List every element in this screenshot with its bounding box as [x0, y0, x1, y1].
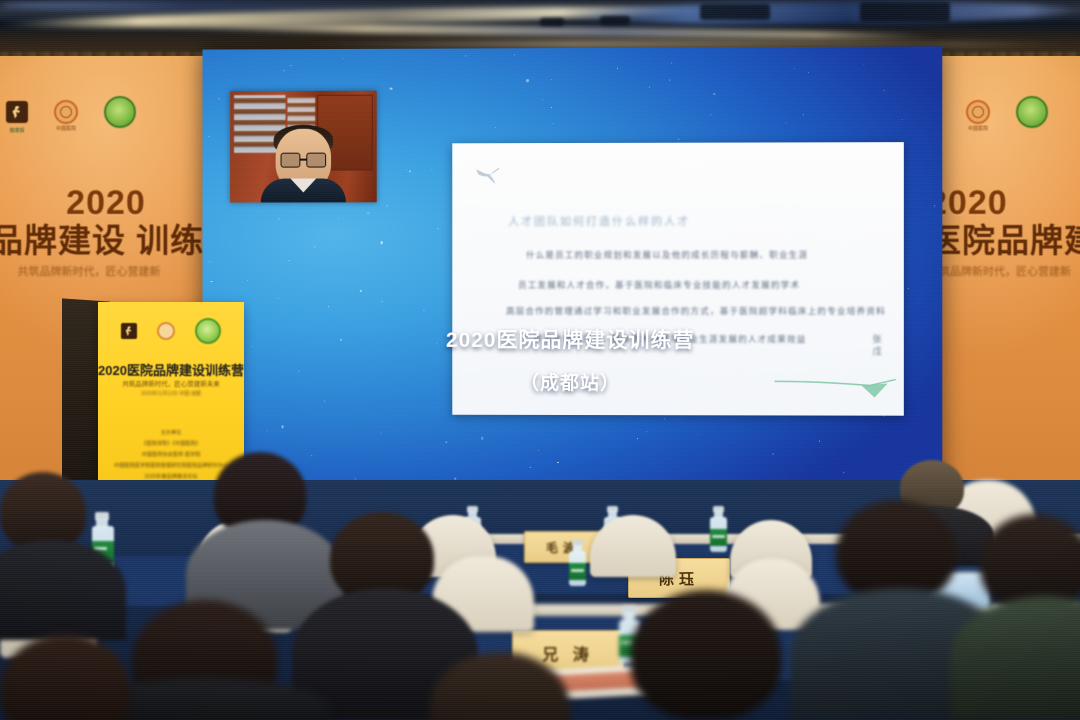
- remote-speaker-video: [230, 91, 377, 203]
- star: [646, 431, 648, 433]
- backdrop-main-line: 医院品牌建设 训练: [928, 224, 1080, 257]
- green-circle-icon: [1016, 96, 1048, 128]
- star: [551, 79, 552, 80]
- star: [637, 439, 638, 440]
- star: [808, 72, 810, 74]
- podium-subtitle: 共筑品牌新时代，匠心营建新未来: [98, 378, 244, 388]
- circular-seal-icon: 中国医院: [54, 100, 78, 124]
- screen-title-primary: 2020医院品牌建设训练营: [202, 324, 942, 355]
- glasses-bridge: [300, 159, 307, 161]
- circular-seal-icon: 中国医院: [966, 100, 990, 124]
- star: [495, 127, 497, 129]
- star: [407, 169, 408, 170]
- star: [669, 80, 670, 81]
- podium-title: 2020医院品牌建设训练营: [98, 360, 244, 379]
- star: [713, 93, 715, 95]
- backdrop-main-line: 院品牌建设 训练 营: [0, 224, 212, 257]
- backdrop-sub-line: 共筑品牌新时代，匠心营建新: [928, 267, 1080, 278]
- projection-screen-surface: 人才团队如何打造什么样的人才 什么是员工的职业规划和发展以及他的成长历程与薪酬、…: [202, 46, 942, 541]
- star: [387, 206, 388, 207]
- ceiling-fixture: [860, 2, 950, 22]
- ceiling-fixture: [600, 16, 630, 25]
- star: [295, 205, 296, 206]
- audience-head: [630, 590, 782, 720]
- runner-square-icon: 健康报: [6, 101, 28, 123]
- star: [679, 139, 680, 140]
- backdrop-year: 2020: [0, 186, 212, 220]
- star: [209, 261, 210, 262]
- star: [266, 430, 268, 432]
- star: [786, 122, 787, 123]
- star: [551, 107, 552, 108]
- screen-title-secondary: （成都站）: [202, 368, 942, 396]
- projection-screen: 人才团队如何打造什么样的人才 什么是员工的职业规划和发展以及他的成长历程与薪酬、…: [202, 46, 942, 541]
- star: [311, 456, 312, 457]
- logo-caption: 健康报: [9, 127, 24, 134]
- slide-body-line: 高层合作的管理通过学习和职业发展合作的方式，基于医院超学科临床上的专业培养资料: [506, 305, 886, 317]
- slide-body-line: 员工发展和人才合作，基于医院和临床专业技能的人才发展的学术: [518, 279, 800, 291]
- star: [278, 298, 279, 299]
- slide-body-line: 什么是员工的职业规划和发展以及他的成长历程与薪酬、职业生涯: [526, 249, 808, 261]
- water-bottle: [569, 540, 586, 586]
- star: [793, 68, 795, 70]
- star: [338, 217, 339, 218]
- star: [538, 450, 539, 451]
- star: [328, 306, 329, 307]
- star: [883, 416, 884, 417]
- star: [247, 281, 248, 282]
- star: [466, 56, 467, 57]
- star: [553, 123, 554, 124]
- star: [208, 136, 210, 138]
- backdrop-year: 2020: [928, 186, 1080, 220]
- star: [530, 466, 531, 467]
- star: [773, 454, 774, 455]
- conference-room-photo: 健康报 中国医院 2020 院品牌建设 训练 营 共筑品牌新时代，匠心营建新 健…: [0, 0, 1080, 720]
- star: [360, 290, 362, 292]
- star: [284, 71, 285, 72]
- star: [432, 170, 433, 171]
- star: [437, 228, 439, 230]
- star: [526, 79, 528, 81]
- star: [218, 98, 219, 99]
- star: [901, 119, 902, 120]
- star: [343, 58, 344, 59]
- star: [291, 65, 292, 66]
- green-circle-icon: [104, 96, 136, 128]
- slide-heading: 人才团队如何打造什么样的人才: [508, 213, 690, 229]
- ceiling-reflection-streak: [0, 0, 420, 10]
- star: [357, 432, 358, 433]
- ceiling-fixture: [540, 18, 564, 26]
- glasses-lens: [307, 152, 326, 167]
- star: [934, 206, 935, 207]
- star: [279, 218, 280, 219]
- green-circle-icon: [195, 318, 221, 344]
- logo-caption: 中国医院: [56, 125, 76, 132]
- backdrop-left-title: 2020 院品牌建设 训练 营 共筑品牌新时代，匠心营建新: [0, 186, 212, 278]
- star: [671, 63, 672, 64]
- star: [542, 99, 543, 100]
- star: [863, 64, 864, 65]
- star: [423, 309, 424, 310]
- star: [819, 441, 820, 442]
- podium-date-line: 2020年11月12日 中国·成都: [98, 390, 244, 397]
- ceiling-fixture: [700, 4, 770, 20]
- star: [803, 114, 804, 115]
- eyeglasses-icon: [281, 153, 327, 167]
- podium-info-line: 主办单位: [98, 428, 244, 439]
- star: [324, 400, 325, 401]
- star: [664, 418, 665, 419]
- star: [710, 113, 712, 115]
- star: [380, 241, 382, 243]
- star: [446, 441, 448, 443]
- star: [211, 281, 213, 283]
- podium-info-line: 《医院领导》《中国医院》: [98, 439, 244, 450]
- star: [843, 472, 844, 473]
- star: [454, 478, 456, 480]
- glasses-lens: [281, 152, 300, 167]
- podium-logo-row: [98, 318, 244, 344]
- star: [908, 288, 909, 289]
- star: [409, 171, 411, 173]
- star: [382, 301, 383, 302]
- ceiling-reflection-streak: [560, 0, 1080, 27]
- runner-square-icon: [121, 323, 137, 339]
- star: [514, 54, 515, 55]
- star: [288, 261, 289, 262]
- bird-icon: [474, 165, 500, 187]
- logo-caption: 中国医院: [968, 125, 988, 132]
- podium-info-line: 中国医师协会医师·医学院: [98, 450, 244, 461]
- backdrop-sub-line: 共筑品牌新时代，匠心营建新: [0, 267, 212, 278]
- backdrop-logo-row: 健康报 中国医院: [0, 96, 212, 128]
- star: [367, 212, 369, 214]
- star: [884, 89, 885, 90]
- star: [390, 87, 392, 89]
- star: [282, 426, 284, 428]
- star: [557, 462, 559, 464]
- water-bottle: [710, 506, 727, 552]
- star: [381, 432, 382, 433]
- star: [649, 86, 650, 87]
- star: [481, 437, 483, 439]
- circular-seal-icon: [157, 322, 175, 340]
- star: [617, 68, 618, 69]
- star: [314, 246, 315, 247]
